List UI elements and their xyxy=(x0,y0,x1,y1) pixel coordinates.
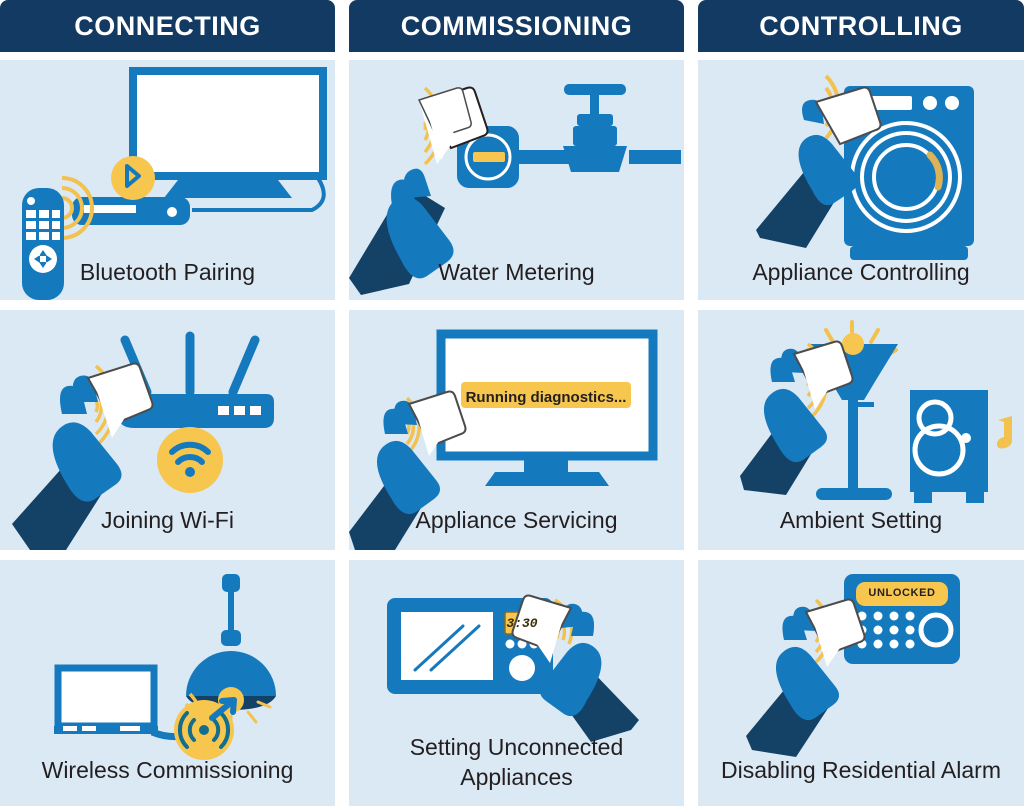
tv-screen xyxy=(133,71,323,198)
gutter-1 xyxy=(335,0,349,806)
cell-setting-unconnected-appliances[interactable]: 3:30 Setting Unconnected Appliances xyxy=(349,560,684,806)
cell-caption: Wireless Commissioning xyxy=(0,756,335,784)
cell-water-metering[interactable]: Water Metering xyxy=(349,60,684,300)
cell-caption: Appliance Servicing xyxy=(349,506,684,534)
gutter-row-a2 xyxy=(349,52,684,60)
gutter-row-c3 xyxy=(698,550,1024,560)
status-badge-label: UNLOCKED xyxy=(856,587,948,599)
infographic-grid: CONNECTING COMMISSIONING CONTROLLING xyxy=(0,0,1024,806)
cell-appliance-servicing[interactable]: Running diagnostics... Appliance Servici… xyxy=(349,310,684,550)
screen-message: Running diagnostics... xyxy=(461,389,631,406)
gutter-row-b1 xyxy=(0,300,335,310)
cell-caption: Disabling Residential Alarm xyxy=(698,756,1024,784)
header-label: CONNECTING xyxy=(74,11,261,42)
speaker xyxy=(910,390,988,503)
cell-appliance-controlling[interactable]: Appliance Controlling xyxy=(698,60,1024,300)
monitor-screen xyxy=(441,334,653,486)
cell-wireless-commissioning[interactable]: Wireless Commissioning xyxy=(0,560,335,806)
gutter-row-c1 xyxy=(0,550,335,560)
cell-caption: Bluetooth Pairing xyxy=(0,258,335,286)
header-label: CONTROLLING xyxy=(759,11,962,42)
microwave-display-value: 3:30 xyxy=(505,616,539,631)
wifi-badge-icon xyxy=(157,427,223,493)
cell-ambient-setting[interactable]: Ambient Setting xyxy=(698,310,1024,550)
gutter-row-b2 xyxy=(349,300,684,310)
column-header-commissioning: COMMISSIONING xyxy=(349,0,684,52)
control-knob-icon xyxy=(509,655,535,681)
bluetooth-badge-icon xyxy=(111,156,155,200)
column-header-connecting: CONNECTING xyxy=(0,0,335,52)
gutter-2 xyxy=(684,0,698,806)
cell-joining-wifi[interactable]: Joining Wi-Fi xyxy=(0,310,335,550)
cell-disabling-residential-alarm[interactable]: UNLOCKED Disabling Residential Alarm xyxy=(698,560,1024,806)
cell-caption: Water Metering xyxy=(349,258,684,286)
gutter-row-a1 xyxy=(0,52,335,60)
music-note-icon xyxy=(997,416,1012,449)
hand-holding-phone xyxy=(746,600,865,758)
laptop-screen xyxy=(54,668,158,734)
cell-caption-line-1: Setting Unconnected xyxy=(349,732,684,762)
cell-caption: Appliance Controlling xyxy=(698,258,1024,286)
hand-holding-phone xyxy=(740,342,853,496)
cell-caption: Joining Wi-Fi xyxy=(0,506,335,534)
cell-bluetooth-pairing[interactable]: Bluetooth Pairing xyxy=(0,60,335,300)
cell-caption: Ambient Setting xyxy=(698,506,1024,534)
column-header-controlling: CONTROLLING xyxy=(698,0,1024,52)
valve-icon xyxy=(563,84,627,172)
gutter-row-a3 xyxy=(698,52,1024,60)
header-label: COMMISSIONING xyxy=(401,11,633,42)
gutter-row-b3 xyxy=(698,300,1024,310)
gutter-row-c2 xyxy=(349,550,684,560)
cell-caption-line-2: Appliances xyxy=(349,762,684,792)
